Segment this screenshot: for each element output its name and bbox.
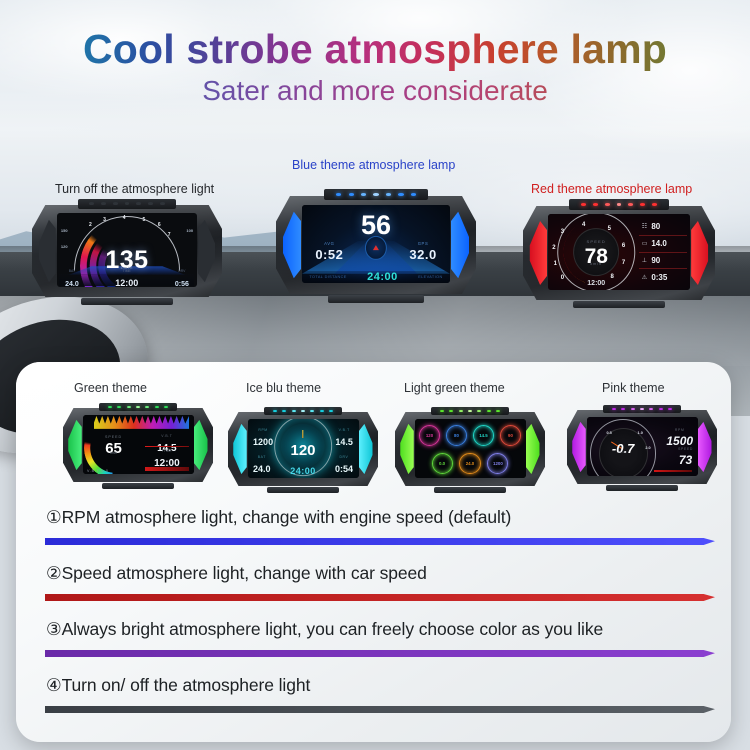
- list-item: ①RPM atmosphere light, change with engin…: [16, 505, 731, 561]
- avg-readout: AVG 0:52: [315, 241, 343, 264]
- gauge-value: 1200: [493, 461, 503, 466]
- label-light-green-theme: Light green theme: [404, 381, 505, 395]
- battery-value: 14.0: [651, 239, 667, 248]
- bottom-bar: [145, 467, 189, 471]
- clock-value: 24:00: [248, 466, 359, 476]
- dial-number: 5: [142, 217, 145, 223]
- drive-time-value: 0:56: [175, 281, 189, 287]
- avg-value: 0:52: [315, 247, 343, 262]
- dial-number: 4: [582, 222, 585, 228]
- voltage-label: V.B.T: [145, 434, 189, 438]
- drive-time-readout: DRV 0:56: [175, 269, 189, 287]
- speed-readout: SPEED 73: [678, 447, 693, 469]
- label-blue-theme: Blue theme atmosphere lamp: [292, 158, 455, 172]
- readout-list: ☷ 80 ▭ 14.0 ⊥ 90 ⚠ 0:35: [639, 219, 687, 285]
- gauge-value: 90: [508, 433, 513, 438]
- device-screen: 56 km/h AVG 0:52 GPS 32.0 TOTAL DISTANCE…: [302, 205, 450, 283]
- heading-block: Cool strobe atmosphere lamp Sater and mo…: [0, 28, 750, 107]
- clock-readout: TIME 12:00: [115, 269, 138, 287]
- battery-label: BAT: [253, 455, 271, 459]
- dial-number: 3: [561, 229, 564, 235]
- footer-readout: V.B.T 0.0: [87, 469, 109, 473]
- feature-bar-rpm: [45, 538, 715, 545]
- speed-unit: km/h: [552, 262, 640, 266]
- label-red-theme: Red theme atmosphere lamp: [531, 182, 692, 196]
- scale-left-top: 150: [61, 228, 68, 233]
- led-strip: [324, 189, 428, 200]
- clock-label: TIME: [145, 449, 189, 453]
- page-title: Cool strobe atmosphere lamp: [0, 28, 750, 71]
- feature-text-speed: ②Speed atmosphere light, change with car…: [46, 563, 427, 584]
- hud-device-red-theme: 0 1 2 3 4 5 6 7 8 SPEED 78 km/h 12:00 ☷ …: [523, 206, 715, 300]
- dial-number: 6: [158, 222, 161, 228]
- drive-time-label: DRV: [335, 455, 353, 459]
- battery-readout: BAT 24.0: [65, 269, 79, 287]
- gauge: 14.5: [473, 425, 494, 446]
- device-mount: [573, 301, 665, 309]
- device-mount: [102, 483, 174, 489]
- footer-right-label: ELEVATION: [418, 275, 442, 279]
- hud-device-blue-theme: 56 km/h AVG 0:52 GPS 32.0 TOTAL DISTANCE…: [276, 196, 476, 294]
- led-strip: [431, 407, 509, 415]
- readout-row: ⊥ 90: [639, 253, 687, 270]
- feature-text-toggle: ④Turn on/ off the atmosphere light: [46, 675, 310, 696]
- battery-label: BAT: [65, 269, 79, 273]
- device-mount: [434, 487, 506, 493]
- dial-number: 8: [610, 274, 613, 280]
- speed-label: SPEED: [89, 435, 138, 439]
- g-force-unit: m/s²: [590, 450, 657, 454]
- rpm-readout: RPM 1200: [253, 428, 273, 450]
- battery-icon: ▭: [642, 240, 649, 247]
- hud-device-green-theme: SPEED 65 km/h V.B.T 14.5 TIME 12:00 V.B.…: [63, 408, 213, 482]
- status-bar: BAT 24.0 TIME 12:00 DRV 0:56: [59, 274, 194, 287]
- rpm-label: RPM: [253, 428, 273, 432]
- gauge-value: 120: [426, 433, 433, 438]
- feature-bar-speed: [45, 594, 715, 601]
- gauge: 24.0: [459, 453, 480, 474]
- label-pink-theme: Pink theme: [602, 381, 665, 395]
- g-tick: 1.0: [638, 431, 643, 435]
- gauge: 80: [446, 425, 467, 446]
- device-screen: SPEED 65 km/h V.B.T 14.5 TIME 12:00 V.B.…: [83, 415, 194, 474]
- gauge-value: 80: [454, 433, 459, 438]
- device-screen: 120 RPM 1200 V.B.T 14.5 BAT 24.0 DRV 0:5…: [248, 419, 359, 478]
- led-strip: [569, 199, 669, 209]
- dial-number: 4: [123, 215, 126, 221]
- dial-number: 5: [608, 226, 611, 232]
- load-value: 80: [651, 222, 660, 231]
- device-screen: 0.5 1.0 2.0 -0.7 m/s² RPM 1500 SPEED 73: [587, 417, 698, 476]
- pressure-value: 90: [651, 256, 660, 265]
- list-item: ③Always bright atmosphere light, you can…: [16, 617, 731, 673]
- gps-label: GPS: [409, 241, 436, 246]
- led-strip: [99, 403, 177, 411]
- gps-readout: GPS 32.0: [409, 241, 436, 264]
- hud-device-ice-blu-theme: 120 RPM 1200 V.B.T 14.5 BAT 24.0 DRV 0:5…: [228, 412, 378, 486]
- gauge: 90: [500, 425, 521, 446]
- label-green-theme: Green theme: [74, 381, 147, 395]
- led-strip: [78, 199, 177, 209]
- load-icon: ☷: [642, 223, 649, 230]
- voltage-label: V.B.T: [335, 428, 353, 432]
- label-ice-blu-theme: Ice blu theme: [246, 381, 321, 395]
- device-screen: 0 1 2 3 4 5 6 7 8 SPEED 78 km/h 12:00 ☷ …: [548, 214, 690, 289]
- device-screen: 2 3 4 5 6 7 150 120 100 135 km/h BAT 24.…: [57, 213, 198, 287]
- dial-number: 3: [103, 217, 106, 223]
- bottom-bar: [654, 470, 692, 472]
- gps-value: 32.0: [409, 247, 436, 262]
- led-strip: [603, 405, 681, 413]
- rpm-value: 1200: [253, 437, 273, 447]
- device-mount: [328, 295, 424, 303]
- readout-row: ⚠ 0:35: [639, 269, 687, 285]
- device-mount: [81, 298, 172, 305]
- avg-label: AVG: [315, 241, 343, 246]
- dial-number: 2: [89, 222, 92, 228]
- warning-icon: ⚠: [642, 274, 649, 281]
- readout-row: ☷ 80: [639, 219, 687, 236]
- gauge: 0.0: [432, 453, 453, 474]
- feature-list: ①RPM atmosphere light, change with engin…: [16, 505, 731, 729]
- speed-value: 73: [679, 453, 692, 467]
- clock-label: TIME: [115, 269, 138, 273]
- list-item: ④Turn on/ off the atmosphere light: [16, 673, 731, 729]
- warning-value: 0:35: [651, 273, 667, 282]
- speed-unit: km/h: [89, 451, 138, 455]
- gauge-value: 14.5: [479, 433, 488, 438]
- scale-right-top: 100: [186, 228, 193, 233]
- gauge-row: 120 80 14.5 90: [419, 425, 521, 446]
- dial-number: 7: [168, 232, 171, 238]
- feature-bar-always-bright: [45, 650, 715, 657]
- rpm-label: RPM: [666, 428, 693, 432]
- device-screen: 120 80 14.5 90 0.0 24.0 1200: [415, 419, 526, 478]
- feature-bar-toggle: [45, 706, 715, 713]
- clock-value: 24:00: [367, 271, 398, 283]
- device-mount: [267, 487, 339, 493]
- hud-device-light-off: 2 3 4 5 6 7 150 120 100 135 km/h BAT 24.…: [32, 205, 222, 297]
- gauge: 120: [419, 425, 440, 446]
- led-strip: [264, 407, 342, 415]
- gauge-row: 0.0 24.0 1200: [419, 453, 521, 474]
- clock-value: 12:00: [115, 278, 138, 287]
- voltage-value: 14.5: [335, 437, 353, 447]
- gauge-value: 24.0: [466, 461, 475, 466]
- page-subtitle: Sater and more considerate: [0, 76, 750, 107]
- pressure-icon: ⊥: [642, 257, 649, 264]
- divider-bar: [145, 446, 189, 447]
- speed-label: SPEED: [552, 239, 640, 244]
- speed-label: SPEED: [678, 447, 693, 451]
- g-tick: 0.5: [606, 431, 611, 435]
- battery-value: 24.0: [65, 281, 79, 287]
- label-turn-off-light: Turn off the atmosphere light: [55, 182, 214, 196]
- feature-text-always-bright: ③Always bright atmosphere light, you can…: [46, 619, 603, 640]
- drive-time-label: DRV: [175, 269, 189, 273]
- voltage-readout: V.B.T 14.5: [335, 428, 353, 450]
- dial-needle: [302, 430, 303, 438]
- feature-text-rpm: ①RPM atmosphere light, change with engin…: [46, 507, 511, 528]
- readout-row: ▭ 14.0: [639, 236, 687, 253]
- clock-value: 12:00: [552, 280, 640, 287]
- hud-device-pink-theme: 0.5 1.0 2.0 -0.7 m/s² RPM 1500 SPEED 73: [567, 410, 717, 484]
- gauge-value: 0.0: [439, 461, 445, 466]
- footer-left-label: TOTAL DISTANCE: [309, 275, 346, 279]
- device-mount: [606, 485, 678, 491]
- gauge-grid: 120 80 14.5 90 0.0 24.0 1200: [415, 419, 526, 478]
- hud-device-light-green-theme: 120 80 14.5 90 0.0 24.0 1200: [395, 412, 545, 486]
- rpm-value: 1500: [666, 434, 693, 448]
- list-item: ②Speed atmosphere light, change with car…: [16, 561, 731, 617]
- gauge: 1200: [487, 453, 508, 474]
- status-bar: TOTAL DISTANCE 24:00 ELEVATION: [302, 271, 450, 283]
